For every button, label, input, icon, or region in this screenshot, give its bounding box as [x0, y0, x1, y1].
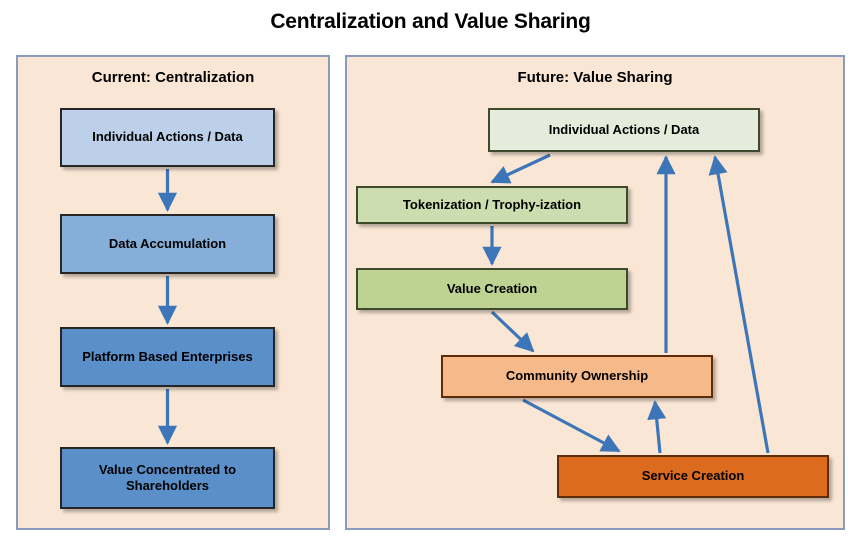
node-left-data-accumulation[interactable]: Data Accumulation	[60, 214, 275, 274]
node-label: Service Creation	[642, 468, 745, 484]
node-right-community-ownership[interactable]: Community Ownership	[441, 355, 713, 398]
node-label: Individual Actions / Data	[549, 122, 699, 138]
node-label: Value Concentrated to Shareholders	[62, 462, 273, 495]
node-label: Community Ownership	[506, 368, 648, 384]
node-left-value-concentrated[interactable]: Value Concentrated to Shareholders	[60, 447, 275, 509]
node-left-individual-actions[interactable]: Individual Actions / Data	[60, 108, 275, 167]
diagram-canvas: Centralization and Value Sharing Current…	[0, 0, 861, 548]
node-right-individual-actions[interactable]: Individual Actions / Data	[488, 108, 760, 152]
panel-right-title: Future: Value Sharing	[347, 69, 843, 86]
node-label: Value Creation	[447, 281, 537, 297]
node-right-value-creation[interactable]: Value Creation	[356, 268, 628, 310]
node-left-platform-enterprises[interactable]: Platform Based Enterprises	[60, 327, 275, 387]
diagram-title: Centralization and Value Sharing	[0, 10, 861, 34]
node-right-tokenization[interactable]: Tokenization / Trophy-ization	[356, 186, 628, 224]
node-label: Platform Based Enterprises	[82, 349, 253, 365]
panel-left-title: Current: Centralization	[18, 69, 328, 86]
node-label: Data Accumulation	[109, 236, 226, 252]
node-right-service-creation[interactable]: Service Creation	[557, 455, 829, 498]
node-label: Individual Actions / Data	[92, 129, 242, 145]
node-label: Tokenization / Trophy-ization	[403, 197, 581, 213]
